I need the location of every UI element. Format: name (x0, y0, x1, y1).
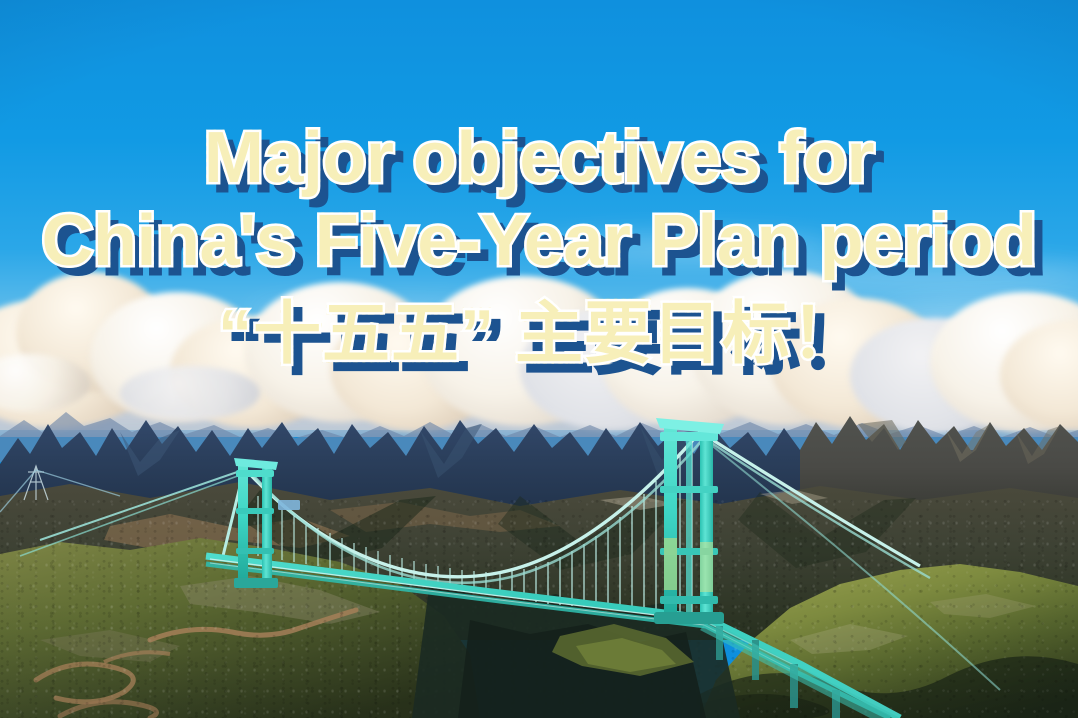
bridge-tower-right (654, 418, 724, 624)
title-en-line2: China's Five-Year Plan period (0, 205, 1078, 277)
poster-canvas: Major objectives for Major objectives fo… (0, 0, 1078, 718)
title-cn-text: “十五五” 主要目标！ (218, 296, 860, 372)
title-block: Major objectives for Major objectives fo… (0, 0, 1078, 400)
title-en-line1-text: Major objectives for (204, 118, 874, 198)
title-en-line2-text: China's Five-Year Plan period (42, 201, 1037, 281)
